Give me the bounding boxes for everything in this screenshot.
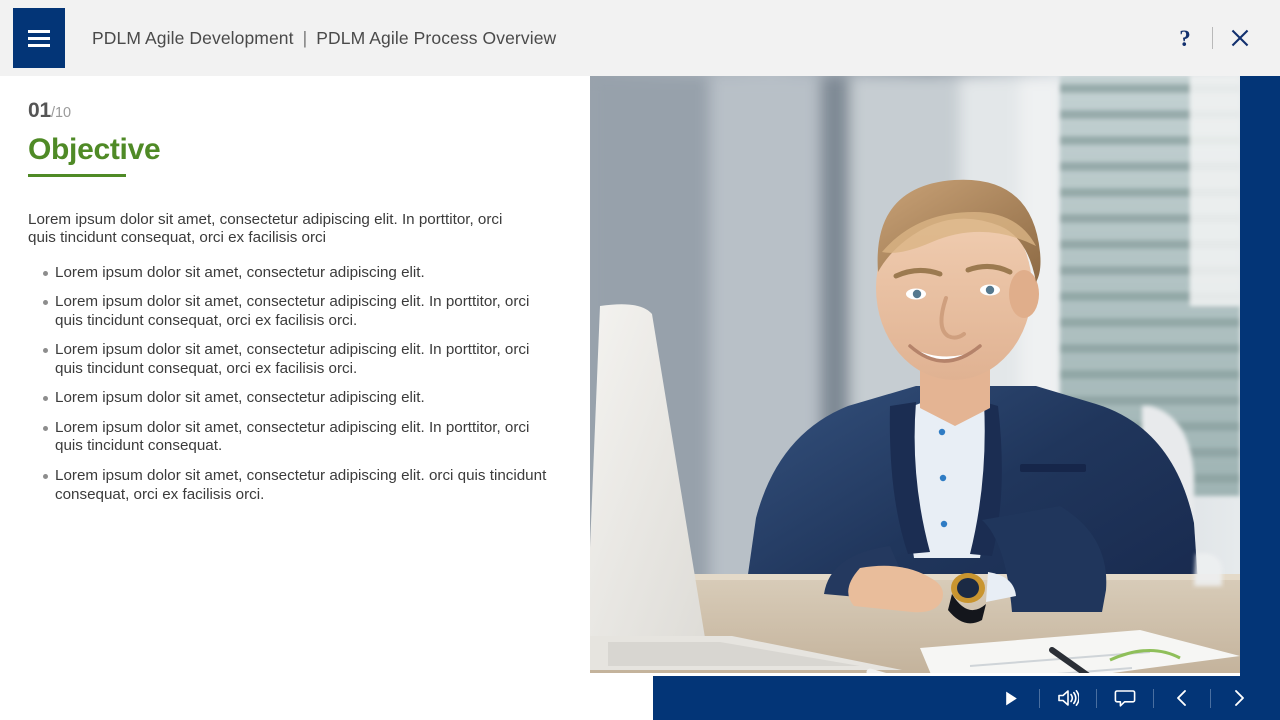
lead-paragraph: Lorem ipsum dolor sit amet, consectetur … [28,211,528,248]
slide-photo-illustration [590,76,1240,673]
breadcrumb-course-title: PDLM Agile Development [92,28,294,49]
volume-button[interactable] [1047,676,1089,720]
help-button[interactable]: ? [1163,16,1207,60]
app-header: PDLM Agile Development | PDLM Agile Proc… [0,0,1280,76]
volume-speaker-icon [1057,688,1079,708]
breadcrumb-separator: | [303,28,308,49]
comment-button[interactable] [1104,676,1146,720]
chevron-right-icon [1230,688,1248,708]
play-icon [1003,690,1020,707]
breadcrumb-module-title: PDLM Agile Process Overview [316,28,556,49]
list-item: Lorem ipsum dolor sit amet, consectetur … [28,389,560,408]
list-item: Lorem ipsum dolor sit amet, consectetur … [28,293,560,330]
player-control-bar [653,676,1280,720]
page-title: Objective [28,134,160,166]
chevron-left-icon [1173,688,1191,708]
close-x-icon [1230,28,1250,48]
list-item: Lorem ipsum dolor sit amet, consectetur … [28,419,560,456]
question-mark-icon: ? [1179,27,1191,50]
hamburger-menu-icon [28,30,50,47]
slide-player-window: PDLM Agile Development | PDLM Agile Proc… [0,0,1280,720]
list-item: Lorem ipsum dolor sit amet, consectetur … [28,467,560,504]
close-button[interactable] [1218,16,1262,60]
control-divider [1153,689,1154,708]
hamburger-menu-button[interactable] [13,8,65,68]
list-item: Lorem ipsum dolor sit amet, consectetur … [28,341,560,378]
previous-slide-button[interactable] [1161,676,1203,720]
slide-number: 01 [28,99,51,122]
next-slide-button[interactable] [1218,676,1260,720]
slide-photo [590,76,1240,673]
slide-counter: 01/10 [28,100,564,121]
control-divider [1210,689,1211,708]
right-accent-panel [1240,76,1280,720]
control-divider [1039,689,1040,708]
header-actions: ? [1163,0,1262,76]
header-action-divider [1212,27,1213,49]
heading-underline [28,174,126,177]
slide-total: /10 [51,105,71,121]
breadcrumb: PDLM Agile Development | PDLM Agile Proc… [92,0,556,76]
slide-text-panel: 01/10 Objective Lorem ipsum dolor sit am… [0,76,590,720]
speech-bubble-icon [1114,688,1136,708]
control-divider [1096,689,1097,708]
list-item: Lorem ipsum dolor sit amet, consectetur … [28,264,560,283]
play-button[interactable] [990,676,1032,720]
objective-bullet-list: Lorem ipsum dolor sit amet, consectetur … [28,264,564,504]
